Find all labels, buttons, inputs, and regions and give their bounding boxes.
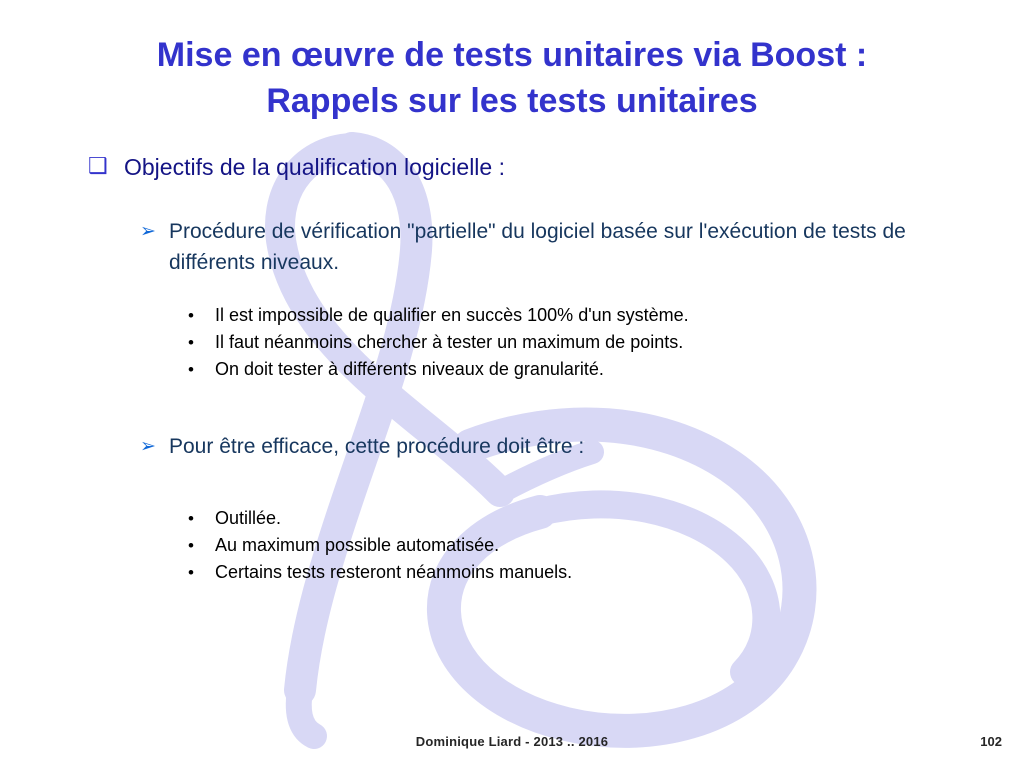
bullet-level3-item: • Il faut néanmoins chercher à tester un… — [0, 329, 1024, 356]
bullet-level3-item: • Outillée. — [0, 505, 1024, 532]
bullet-level3-item: • Il est impossible de qualifier en succ… — [0, 302, 1024, 329]
bullet-level1-objectifs: ❑ Objectifs de la qualification logiciel… — [0, 152, 1024, 186]
slide-title: Mise en œuvre de tests unitaires via Boo… — [60, 32, 964, 124]
bullet-level3-item: • Certains tests resteront néanmoins man… — [0, 559, 1024, 586]
bullet-level3-label: Il est impossible de qualifier en succès… — [215, 305, 689, 325]
bullet-level2-label: Procédure de vérification "partielle" du… — [169, 216, 949, 278]
spacer — [0, 186, 1024, 216]
square-bullet-icon: ❑ — [88, 151, 108, 181]
dot-bullet-icon: • — [188, 559, 194, 586]
spacer — [0, 463, 1024, 487]
bullet-level2-label: Pour être efficace, cette procédure doit… — [169, 431, 949, 462]
bullet-level3-item: • Au maximum possible automatisée. — [0, 532, 1024, 559]
slide-canvas: Mise en œuvre de tests unitaires via Boo… — [0, 0, 1024, 768]
spacer — [0, 487, 1024, 505]
title-line-2: Rappels sur les tests unitaires — [60, 78, 964, 124]
dot-bullet-icon: • — [188, 302, 194, 329]
title-line-1: Mise en œuvre de tests unitaires via Boo… — [60, 32, 964, 78]
bullet-level3-label: Au maximum possible automatisée. — [215, 535, 499, 555]
bullet-level3-label: Outillée. — [215, 508, 281, 528]
bullet-level3-label: On doit tester à différents niveaux de g… — [215, 359, 604, 379]
bullet-level2-procedure: ➢ Procédure de vérification "partielle" … — [0, 216, 1024, 278]
bullet-level2-efficace: ➢ Pour être efficace, cette procédure do… — [0, 431, 1024, 463]
dot-bullet-icon: • — [188, 329, 194, 356]
page-number: 102 — [980, 734, 1002, 749]
spacer — [0, 383, 1024, 413]
arrow-bullet-icon: ➢ — [140, 431, 156, 462]
dot-bullet-icon: • — [188, 356, 194, 383]
spacer — [0, 278, 1024, 302]
bullet-level3-item: • On doit tester à différents niveaux de… — [0, 356, 1024, 383]
slide-footer: Dominique Liard - 2013 .. 2016 102 — [0, 734, 1024, 760]
bullet-level1-label: Objectifs de la qualification logicielle… — [124, 154, 505, 180]
arrow-bullet-icon: ➢ — [140, 216, 156, 247]
bullet-level3-label: Certains tests resteront néanmoins manue… — [215, 562, 572, 582]
bullet-level3-label: Il faut néanmoins chercher à tester un m… — [215, 332, 683, 352]
dot-bullet-icon: • — [188, 532, 194, 559]
slide-body: ❑ Objectifs de la qualification logiciel… — [0, 152, 1024, 586]
dot-bullet-icon: • — [188, 505, 194, 532]
spacer — [0, 413, 1024, 431]
footer-author: Dominique Liard - 2013 .. 2016 — [0, 734, 1024, 749]
